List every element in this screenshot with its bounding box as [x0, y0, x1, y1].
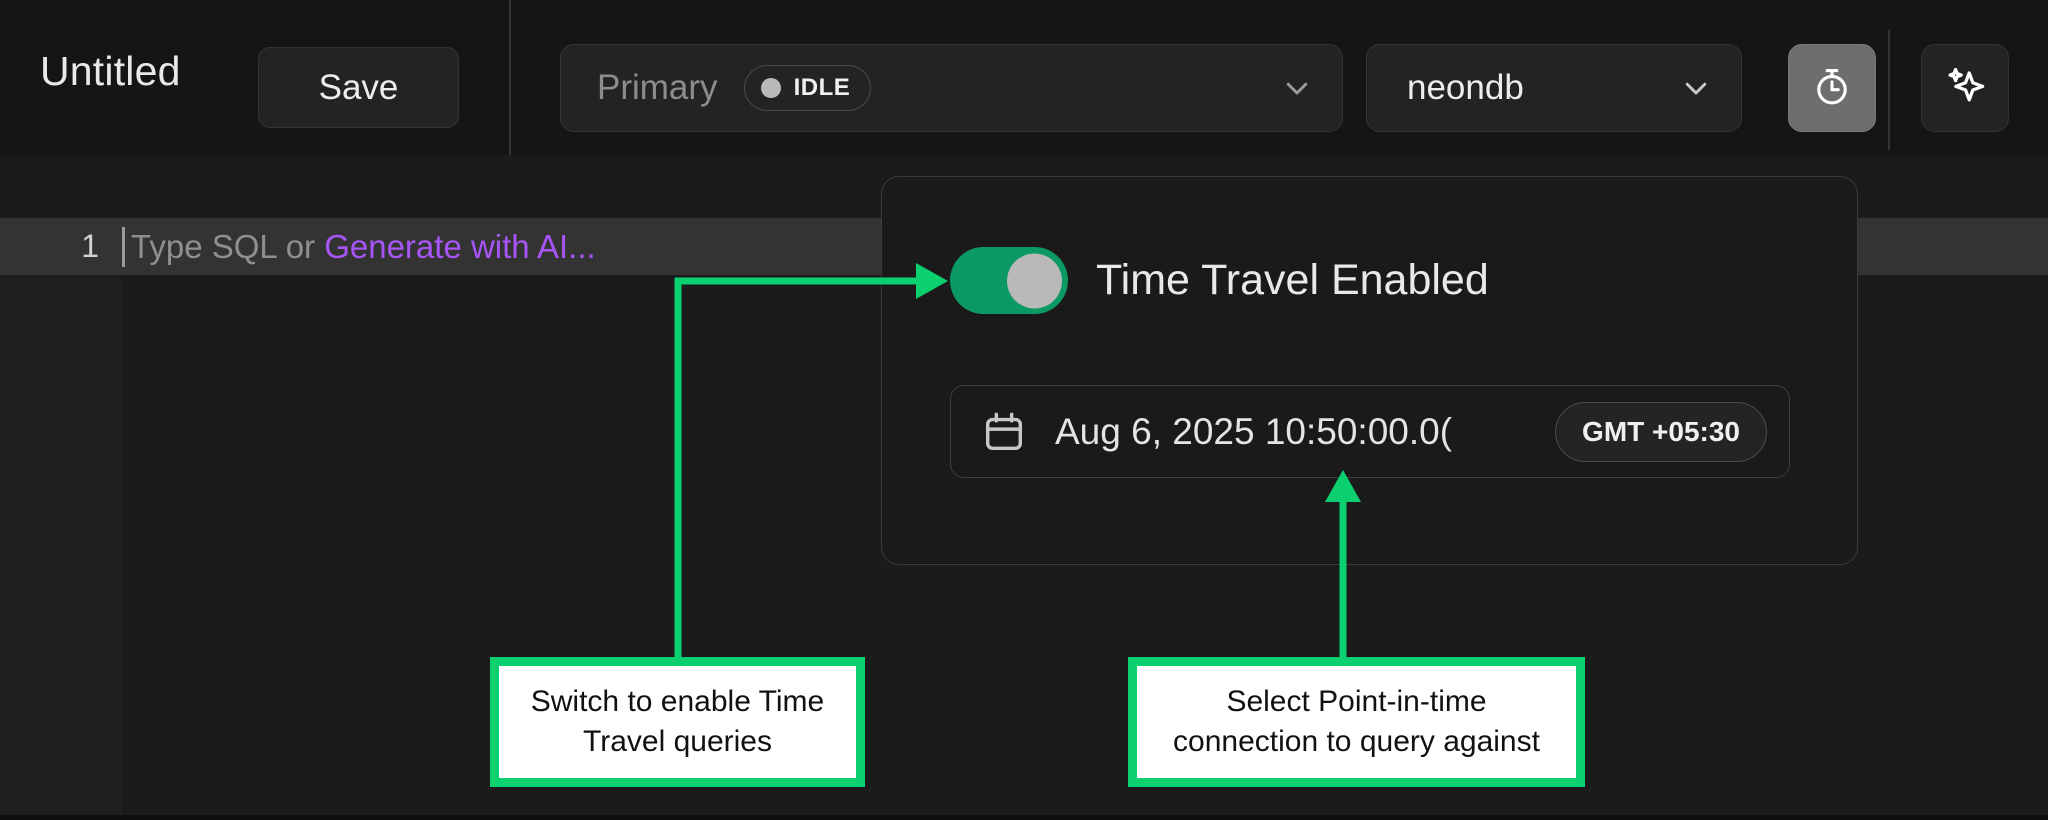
point-in-time-value: Aug 6, 2025 10:50:00.0(	[1055, 411, 1555, 453]
status-dot-icon	[761, 78, 781, 98]
placeholder-ai-link[interactable]: Generate with AI...	[324, 228, 595, 265]
status-badge-label: IDLE	[794, 74, 851, 102]
save-button[interactable]: Save	[258, 47, 459, 128]
toolbar-divider-right	[1888, 30, 1890, 150]
toolbar-divider-left	[509, 0, 511, 155]
sql-editor-app: Untitled Save Primary IDLE neond	[0, 0, 2048, 815]
timezone-badge: GMT +05:30	[1555, 402, 1767, 462]
branch-select[interactable]: Primary IDLE	[560, 44, 1343, 132]
branch-name: Primary	[597, 68, 718, 108]
toolbar: Untitled Save Primary IDLE neond	[0, 0, 2048, 155]
calendar-icon	[981, 409, 1027, 455]
sparkles-icon	[1942, 63, 1988, 114]
stopwatch-icon	[1810, 64, 1854, 113]
page-title: Untitled	[40, 48, 181, 95]
time-travel-title: Time Travel Enabled	[1096, 256, 1489, 305]
toggle-knob	[1007, 253, 1062, 308]
text-caret	[122, 227, 125, 267]
database-name: neondb	[1407, 68, 1524, 108]
chevron-down-icon	[1282, 73, 1312, 103]
time-travel-toggle-row: Time Travel Enabled	[950, 247, 1489, 314]
line-number: 1	[0, 218, 122, 275]
placeholder-prefix: Type SQL or	[131, 228, 324, 265]
ai-generate-button[interactable]	[1921, 44, 2009, 132]
time-travel-button[interactable]	[1788, 44, 1876, 132]
status-badge: IDLE	[744, 65, 872, 111]
time-travel-toggle[interactable]	[950, 247, 1068, 314]
database-select[interactable]: neondb	[1366, 44, 1742, 132]
save-button-label: Save	[319, 68, 399, 108]
time-travel-panel: Time Travel Enabled Aug 6, 2025 10:50:00…	[881, 176, 1858, 565]
editor-placeholder: Type SQL or Generate with AI...	[131, 228, 596, 266]
chevron-down-icon	[1681, 73, 1711, 103]
editor-gutter-column	[0, 275, 122, 815]
toolbar-inner: Untitled Save Primary IDLE neond	[0, 0, 2048, 155]
point-in-time-field[interactable]: Aug 6, 2025 10:50:00.0( GMT +05:30	[950, 385, 1790, 478]
